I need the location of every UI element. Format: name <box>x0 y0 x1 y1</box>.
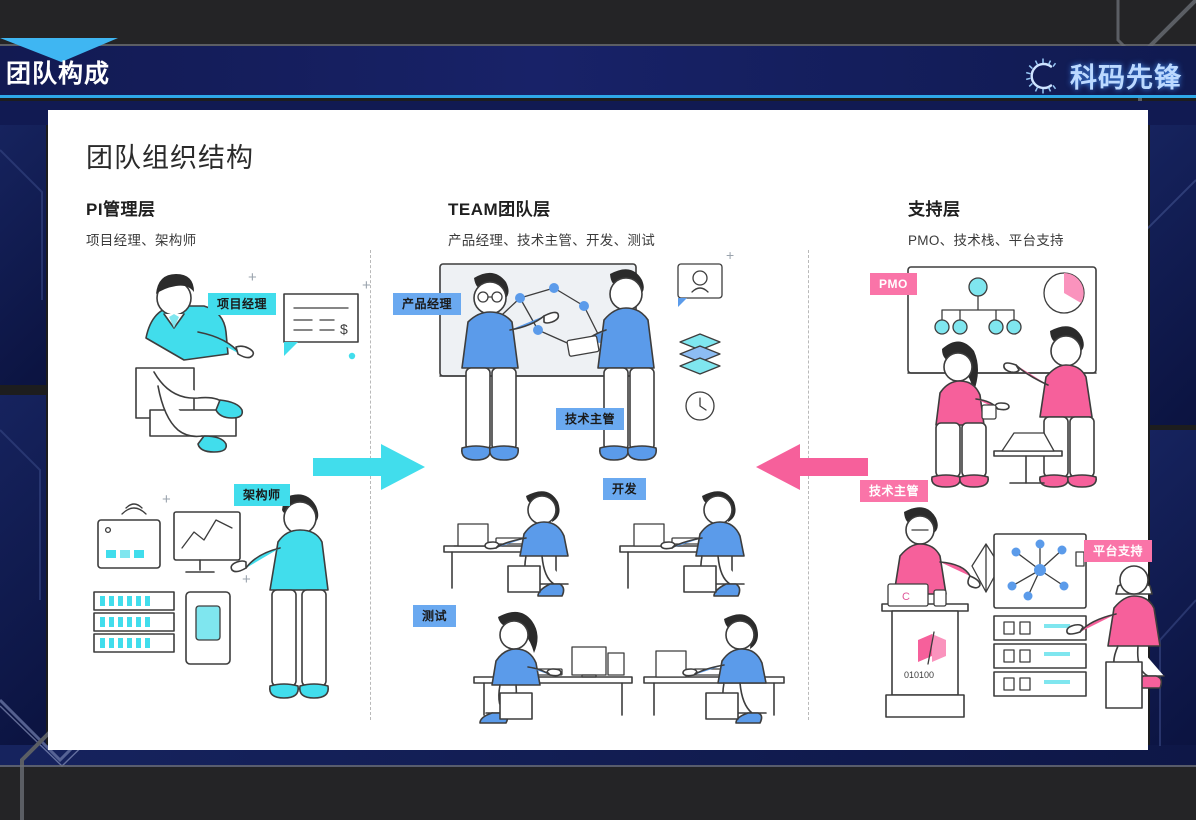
svg-text:+: + <box>248 269 257 286</box>
brand-logo: 科码先锋 <box>1024 56 1182 95</box>
team-subtitle-text: 产品经理、技术主管、开发、测试 <box>448 229 655 249</box>
badge-tech-lead-team[interactable]: 技术主管 <box>556 408 624 430</box>
badge-project-manager[interactable]: 项目经理 <box>208 293 276 315</box>
badge-pmo[interactable]: PMO <box>870 273 917 295</box>
column-heading-pi: PI管理层 项目经理、架构师 <box>86 195 196 249</box>
svg-text:+: + <box>162 491 171 508</box>
illustration-architect: + + <box>88 480 378 720</box>
column-heading-support: 支持层 PMO、技术栈、平台支持 <box>908 195 1064 249</box>
svg-text:+: + <box>362 277 371 294</box>
support-subtitle-text: PMO、技术栈、平台支持 <box>908 229 1064 249</box>
badge-platform-support[interactable]: 平台支持 <box>1084 540 1152 562</box>
content-card: 团队组织结构 PI管理层 项目经理、架构师 TEAM团队层 产品经理、技术主管、… <box>48 110 1148 750</box>
brand-name: 科码先锋 <box>1070 56 1182 95</box>
badge-tech-lead-support[interactable]: 技术主管 <box>860 480 928 502</box>
illustration-tester-desks <box>438 595 798 725</box>
binary-code-text: 010100 <box>904 670 934 680</box>
header-bar <box>0 46 1196 98</box>
illustration-product-manager-whiteboard: + <box>388 250 728 470</box>
team-heading-text: TEAM团队层 <box>448 195 655 220</box>
badge-architect[interactable]: 架构师 <box>234 484 290 506</box>
page-title: 团队构成 <box>6 54 110 90</box>
card-title: 团队组织结构 <box>86 136 254 175</box>
svg-text:+: + <box>242 571 251 588</box>
laptop-mark-text: C <box>902 591 910 603</box>
badge-developer[interactable]: 开发 <box>603 478 646 500</box>
illustration-project-manager: $ + + <box>88 260 368 460</box>
pi-subtitle-text: 项目经理、架构师 <box>86 229 196 249</box>
support-heading-text: 支持层 <box>908 195 1064 220</box>
svg-text:+: + <box>726 247 734 263</box>
column-heading-team: TEAM团队层 产品经理、技术主管、开发、测试 <box>448 195 655 249</box>
badge-product-manager[interactable]: 产品经理 <box>393 293 461 315</box>
pi-heading-text: PI管理层 <box>86 195 196 220</box>
badge-tester[interactable]: 测试 <box>413 605 456 627</box>
c-circle-logo-icon <box>1024 57 1062 95</box>
slide-canvas: 团队构成 <box>0 0 1196 820</box>
svg-text:$: $ <box>340 321 348 337</box>
